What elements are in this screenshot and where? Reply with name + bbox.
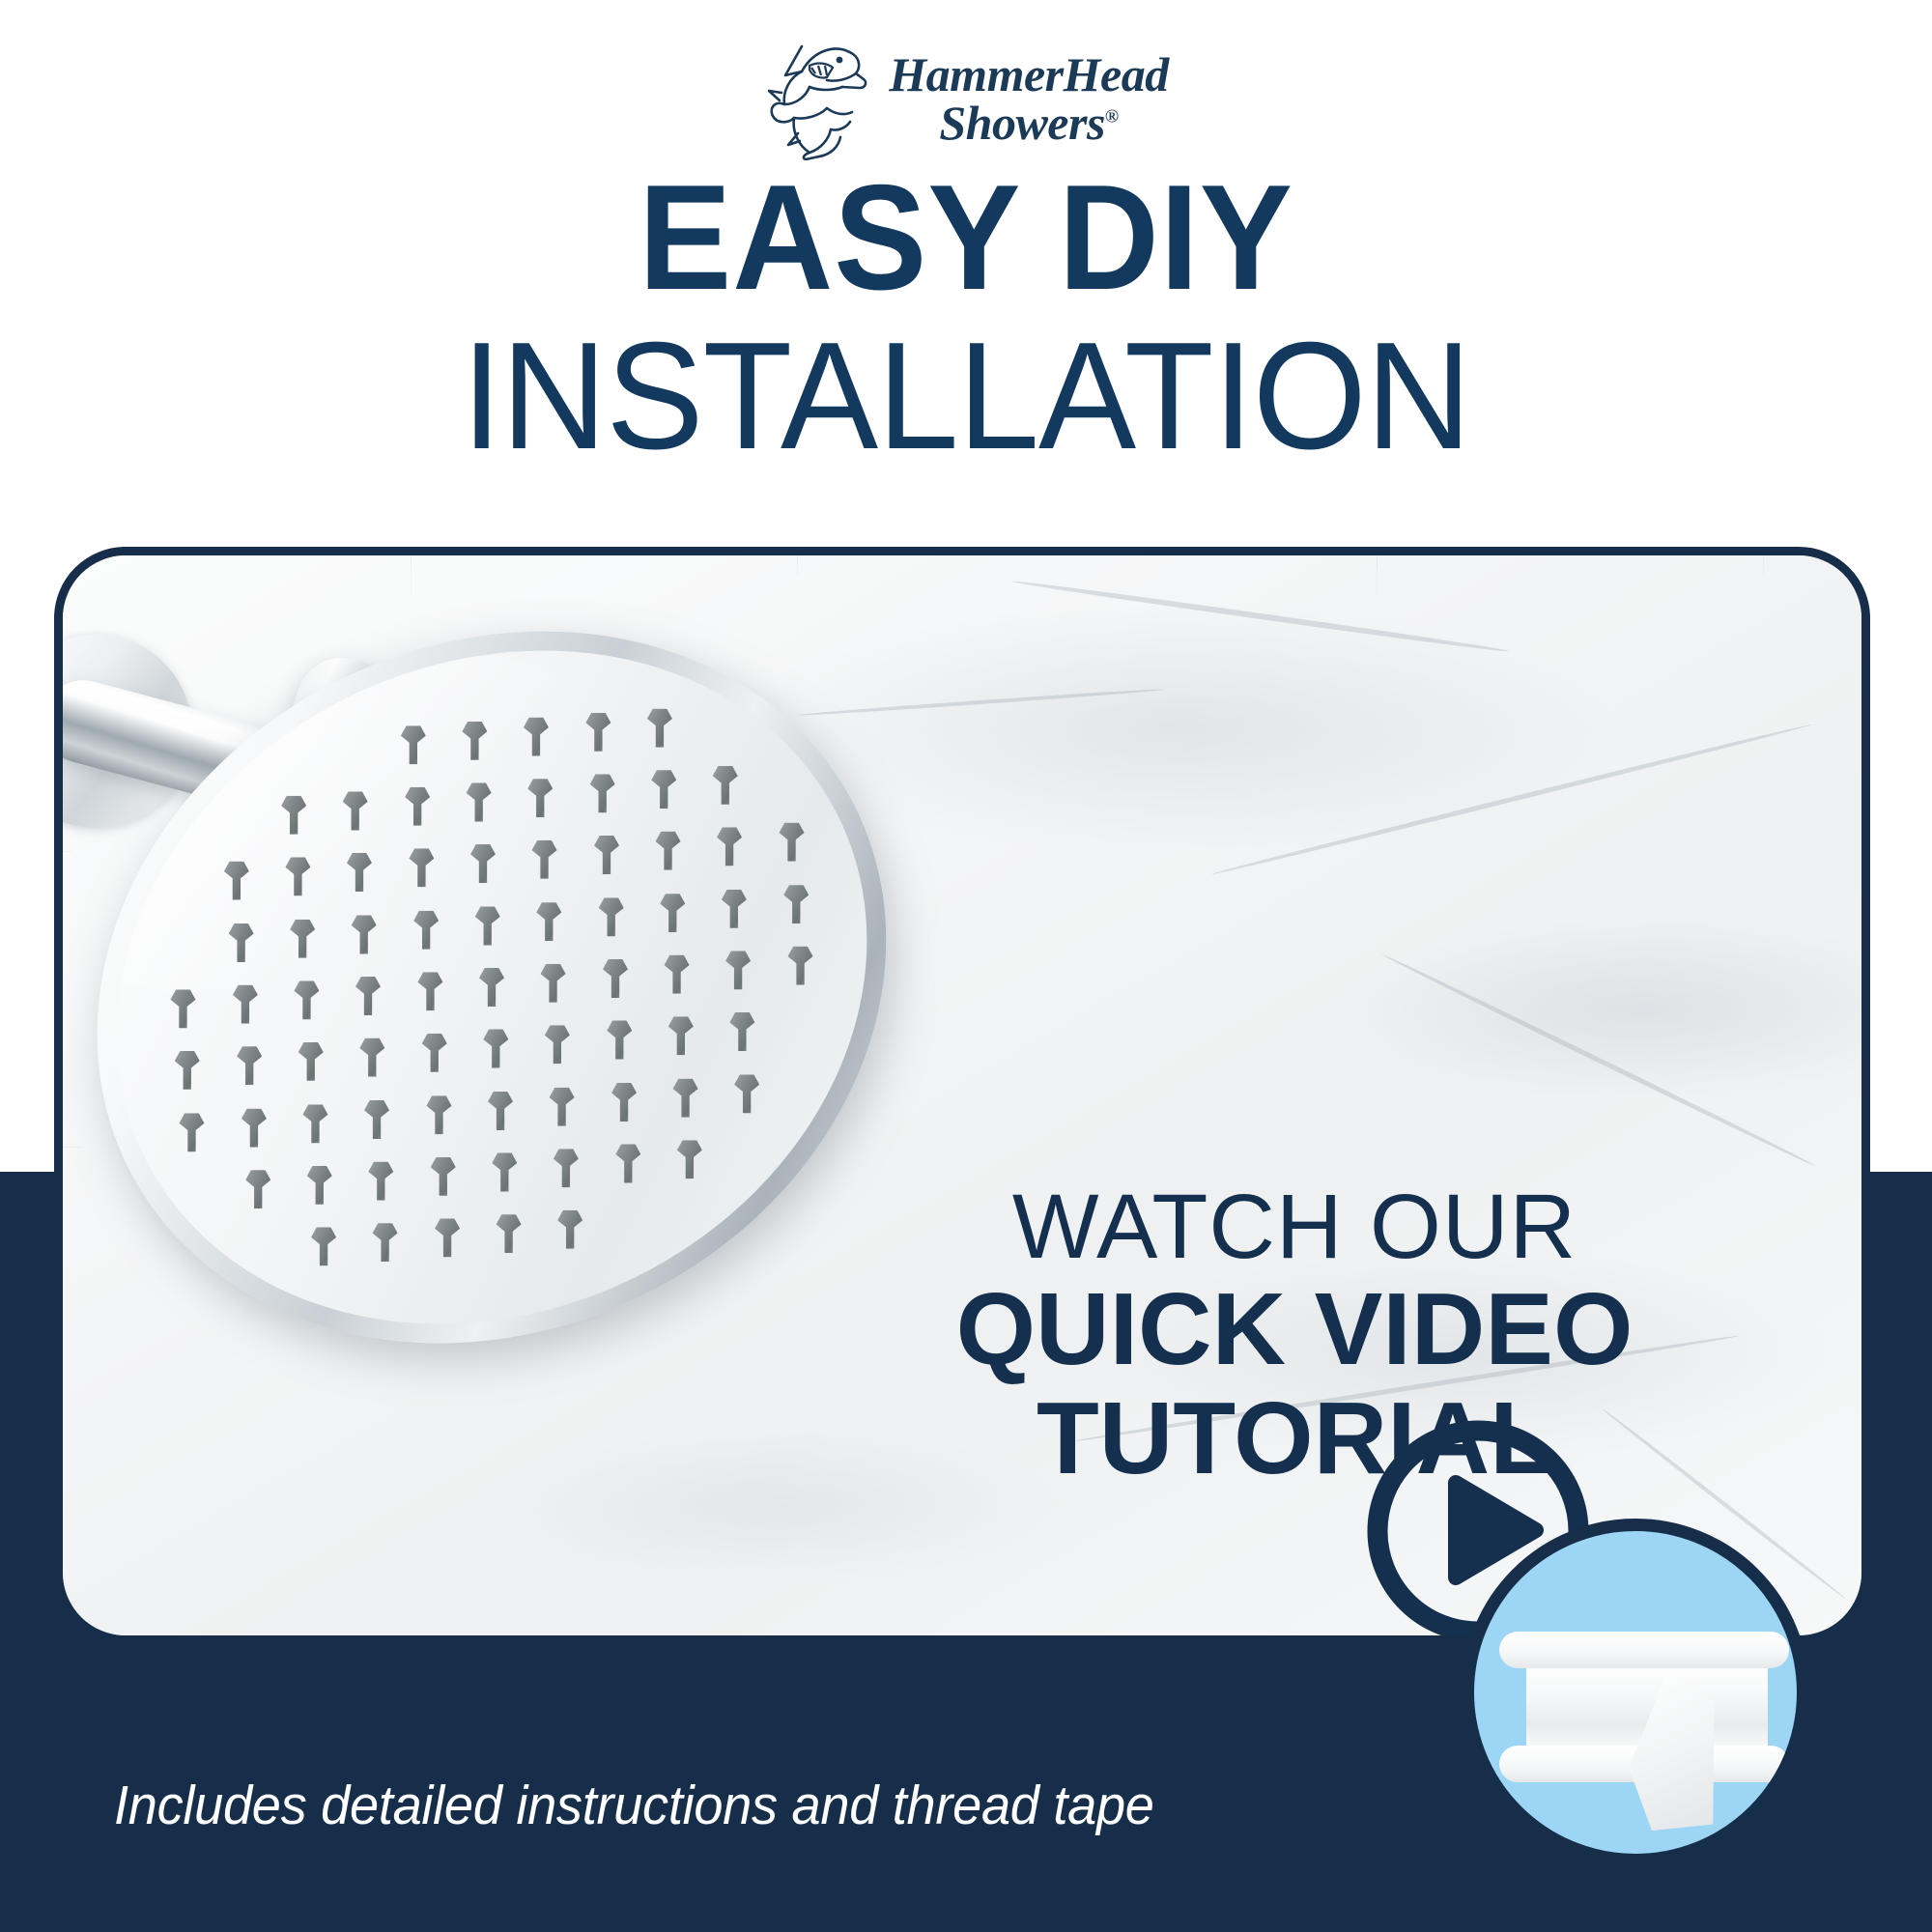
- nozzle: [545, 1025, 570, 1064]
- nozzle: [479, 968, 504, 1007]
- nozzle: [536, 902, 561, 941]
- nozzle: [171, 989, 196, 1028]
- nozzle: [734, 1074, 759, 1113]
- brand-name-showers: Showers: [939, 96, 1105, 150]
- nozzle: [298, 1042, 324, 1081]
- nozzle: [665, 955, 690, 994]
- nozzle: [603, 959, 628, 998]
- nozzle: [611, 1083, 637, 1122]
- nozzle: [497, 1214, 522, 1253]
- nozzle: [532, 840, 557, 879]
- nozzle: [717, 827, 742, 866]
- nozzle: [725, 951, 751, 989]
- nozzle: [311, 1228, 336, 1266]
- nozzle: [417, 972, 442, 1010]
- nozzle: [651, 770, 676, 809]
- nozzle: [783, 885, 809, 923]
- nozzle: [307, 1166, 332, 1205]
- brand-logo: HammerHead Showers®: [0, 37, 1932, 160]
- nozzle: [787, 947, 812, 985]
- nozzle: [302, 1104, 327, 1143]
- nozzle: [237, 1047, 262, 1086]
- nozzle: [492, 1153, 517, 1192]
- nozzle: [598, 897, 623, 936]
- nozzle: [426, 1095, 451, 1134]
- thread-tape-spool-icon: [1462, 1519, 1809, 1866]
- video-cta-line-1: WATCH OUR: [734, 1180, 1855, 1275]
- nozzle: [677, 1140, 702, 1179]
- nozzle: [589, 775, 614, 813]
- nozzle: [558, 1210, 583, 1249]
- headline-line-2: INSTALLATION: [39, 316, 1893, 477]
- nozzle: [364, 1100, 389, 1139]
- registered-trademark-icon: ®: [1105, 106, 1119, 127]
- brand-name-line-1: HammerHead: [889, 50, 1168, 99]
- nozzle: [554, 1149, 579, 1187]
- nozzle: [730, 1012, 755, 1051]
- nozzle: [422, 1034, 447, 1072]
- nozzle: [373, 1223, 398, 1262]
- nozzle: [180, 1113, 205, 1151]
- nozzle: [647, 708, 672, 747]
- nozzle: [594, 836, 619, 874]
- nozzle: [660, 894, 685, 932]
- footer-caption: Includes detailed instructions and threa…: [114, 1774, 1154, 1837]
- nozzle: [175, 1051, 200, 1090]
- nozzle: [355, 977, 381, 1015]
- tape-spool-flange-top: [1499, 1632, 1789, 1668]
- nozzle: [431, 1157, 456, 1196]
- brand-name-line-2: Showers®: [939, 99, 1118, 147]
- hammerhead-shark-icon: [763, 37, 875, 160]
- video-cta-line-2: QUICK VIDEO: [734, 1275, 1855, 1384]
- nozzle: [779, 823, 804, 862]
- video-cta-line-3: TUTORIAL: [734, 1384, 1855, 1493]
- headline-line-1: EASY DIY: [68, 162, 1864, 312]
- nozzle: [722, 889, 747, 927]
- nozzle: [713, 766, 738, 805]
- brand-wordmark: HammerHead Showers®: [889, 50, 1168, 147]
- page-headline: EASY DIY INSTALLATION: [0, 162, 1932, 477]
- nozzle: [615, 1145, 640, 1183]
- nozzle: [668, 1016, 694, 1055]
- nozzle: [233, 985, 258, 1024]
- video-cta-text: WATCH OUR QUICK VIDEO TUTORIAL: [734, 1180, 1855, 1494]
- nozzle: [360, 1038, 385, 1077]
- nozzle: [550, 1087, 575, 1125]
- nozzle: [241, 1109, 267, 1148]
- nozzle: [607, 1021, 632, 1060]
- nozzle: [369, 1161, 394, 1200]
- nozzle: [585, 713, 611, 752]
- nozzle: [435, 1219, 460, 1258]
- nozzle: [475, 906, 500, 945]
- nozzle: [656, 832, 681, 870]
- nozzle: [294, 980, 319, 1019]
- nozzle: [483, 1030, 508, 1068]
- nozzle: [413, 911, 439, 950]
- nozzle: [488, 1092, 513, 1130]
- nozzle: [672, 1078, 697, 1117]
- nozzle: [541, 964, 566, 1003]
- nozzle: [245, 1170, 270, 1208]
